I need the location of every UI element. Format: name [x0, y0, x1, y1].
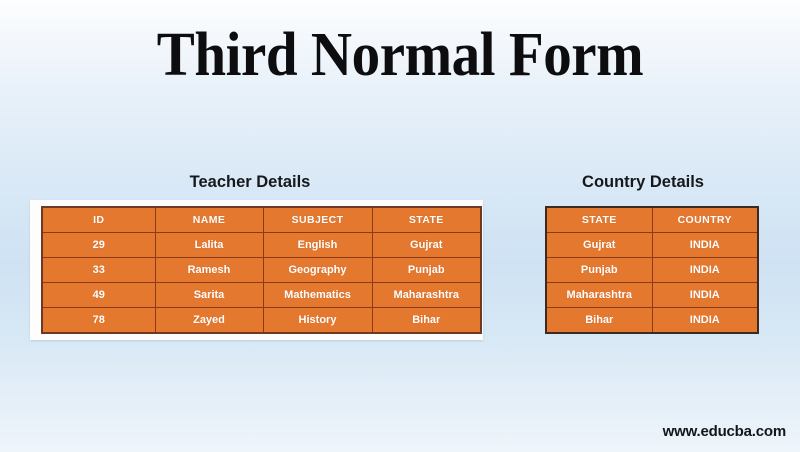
cell-id: 29 — [42, 233, 155, 258]
cell-state: Punjab — [546, 258, 652, 283]
page-title: Third Normal Form — [32, 18, 768, 92]
table-row: 78 Zayed History Bihar — [42, 308, 481, 334]
cell-subject: English — [263, 233, 372, 258]
teacher-table-heading: Teacher Details — [150, 172, 350, 192]
cell-subject: Geography — [263, 258, 372, 283]
cell-country: INDIA — [652, 308, 758, 334]
table-row: Gujrat INDIA — [546, 233, 758, 258]
column-header-state: STATE — [372, 207, 481, 233]
cell-state: Maharashtra — [546, 283, 652, 308]
cell-state: Gujrat — [372, 233, 481, 258]
cell-subject: Mathematics — [263, 283, 372, 308]
cell-id: 78 — [42, 308, 155, 334]
country-table-heading: Country Details — [543, 172, 743, 192]
cell-subject: History — [263, 308, 372, 334]
cell-id: 33 — [42, 258, 155, 283]
cell-state: Punjab — [372, 258, 481, 283]
cell-name: Zayed — [155, 308, 263, 334]
table-header-row: ID NAME SUBJECT STATE — [42, 207, 481, 233]
cell-name: Lalita — [155, 233, 263, 258]
column-header-state: STATE — [546, 207, 652, 233]
column-header-id: ID — [42, 207, 155, 233]
cell-state: Bihar — [546, 308, 652, 334]
table-row: 49 Sarita Mathematics Maharashtra — [42, 283, 481, 308]
teacher-details-table: ID NAME SUBJECT STATE 29 Lalita English … — [41, 206, 482, 334]
cell-country: INDIA — [652, 258, 758, 283]
table-header-row: STATE COUNTRY — [546, 207, 758, 233]
column-header-subject: SUBJECT — [263, 207, 372, 233]
cell-country: INDIA — [652, 283, 758, 308]
table-row: Punjab INDIA — [546, 258, 758, 283]
table-row: 29 Lalita English Gujrat — [42, 233, 481, 258]
column-header-name: NAME — [155, 207, 263, 233]
cell-state: Gujrat — [546, 233, 652, 258]
cell-name: Sarita — [155, 283, 263, 308]
cell-state: Maharashtra — [372, 283, 481, 308]
slide-canvas: Third Normal Form Teacher Details ID NAM… — [0, 0, 800, 452]
cell-id: 49 — [42, 283, 155, 308]
cell-name: Ramesh — [155, 258, 263, 283]
site-watermark: www.educba.com — [663, 423, 786, 440]
country-details-table: STATE COUNTRY Gujrat INDIA Punjab INDIA … — [545, 206, 759, 334]
table-row: Bihar INDIA — [546, 308, 758, 334]
cell-state: Bihar — [372, 308, 481, 334]
cell-country: INDIA — [652, 233, 758, 258]
table-row: Maharashtra INDIA — [546, 283, 758, 308]
table-row: 33 Ramesh Geography Punjab — [42, 258, 481, 283]
column-header-country: COUNTRY — [652, 207, 758, 233]
